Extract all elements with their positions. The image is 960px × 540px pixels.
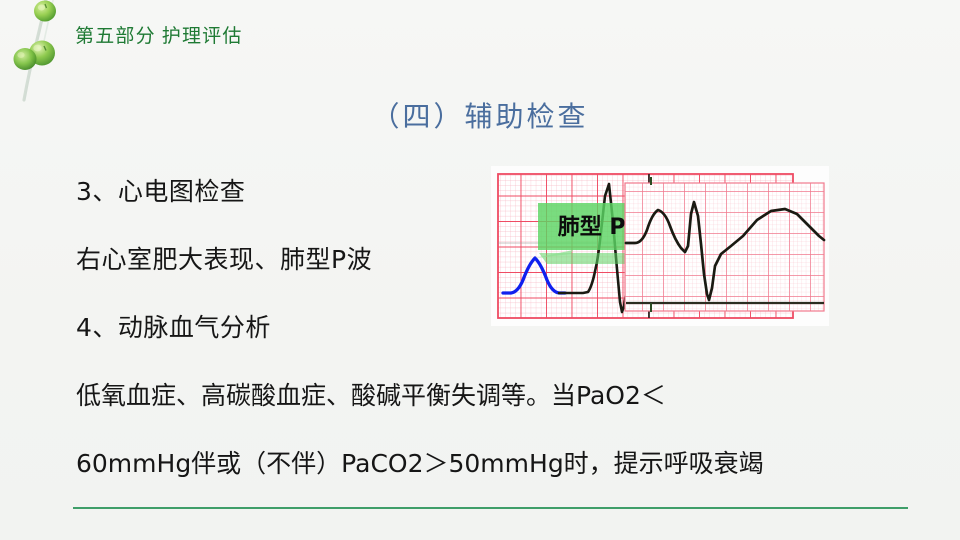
slide-header-label: 第五部分 护理评估 (75, 21, 243, 48)
body-line-5: 60mmHg伴或（不伴）PaCO2＞50mmHg时，提示呼吸衰竭 (76, 430, 906, 498)
body-line-4: 低氧血症、高碳酸血症、酸碱平衡失调等。当PaO2＜ (76, 362, 906, 430)
bottom-divider (73, 507, 908, 509)
ecg-right-panel (625, 177, 824, 312)
ecg-image: 肺型 P 波 (495, 170, 826, 322)
slide-canvas: 第五部分 护理评估 （四）辅助检查 3、心电图检查 右心室肥大表现、肺型P波 4… (0, 0, 960, 540)
ecg-figure: 肺型 P 波 (491, 166, 829, 326)
page-title: （四）辅助检查 (0, 95, 960, 135)
green-berries-decoration-icon (0, 0, 120, 104)
